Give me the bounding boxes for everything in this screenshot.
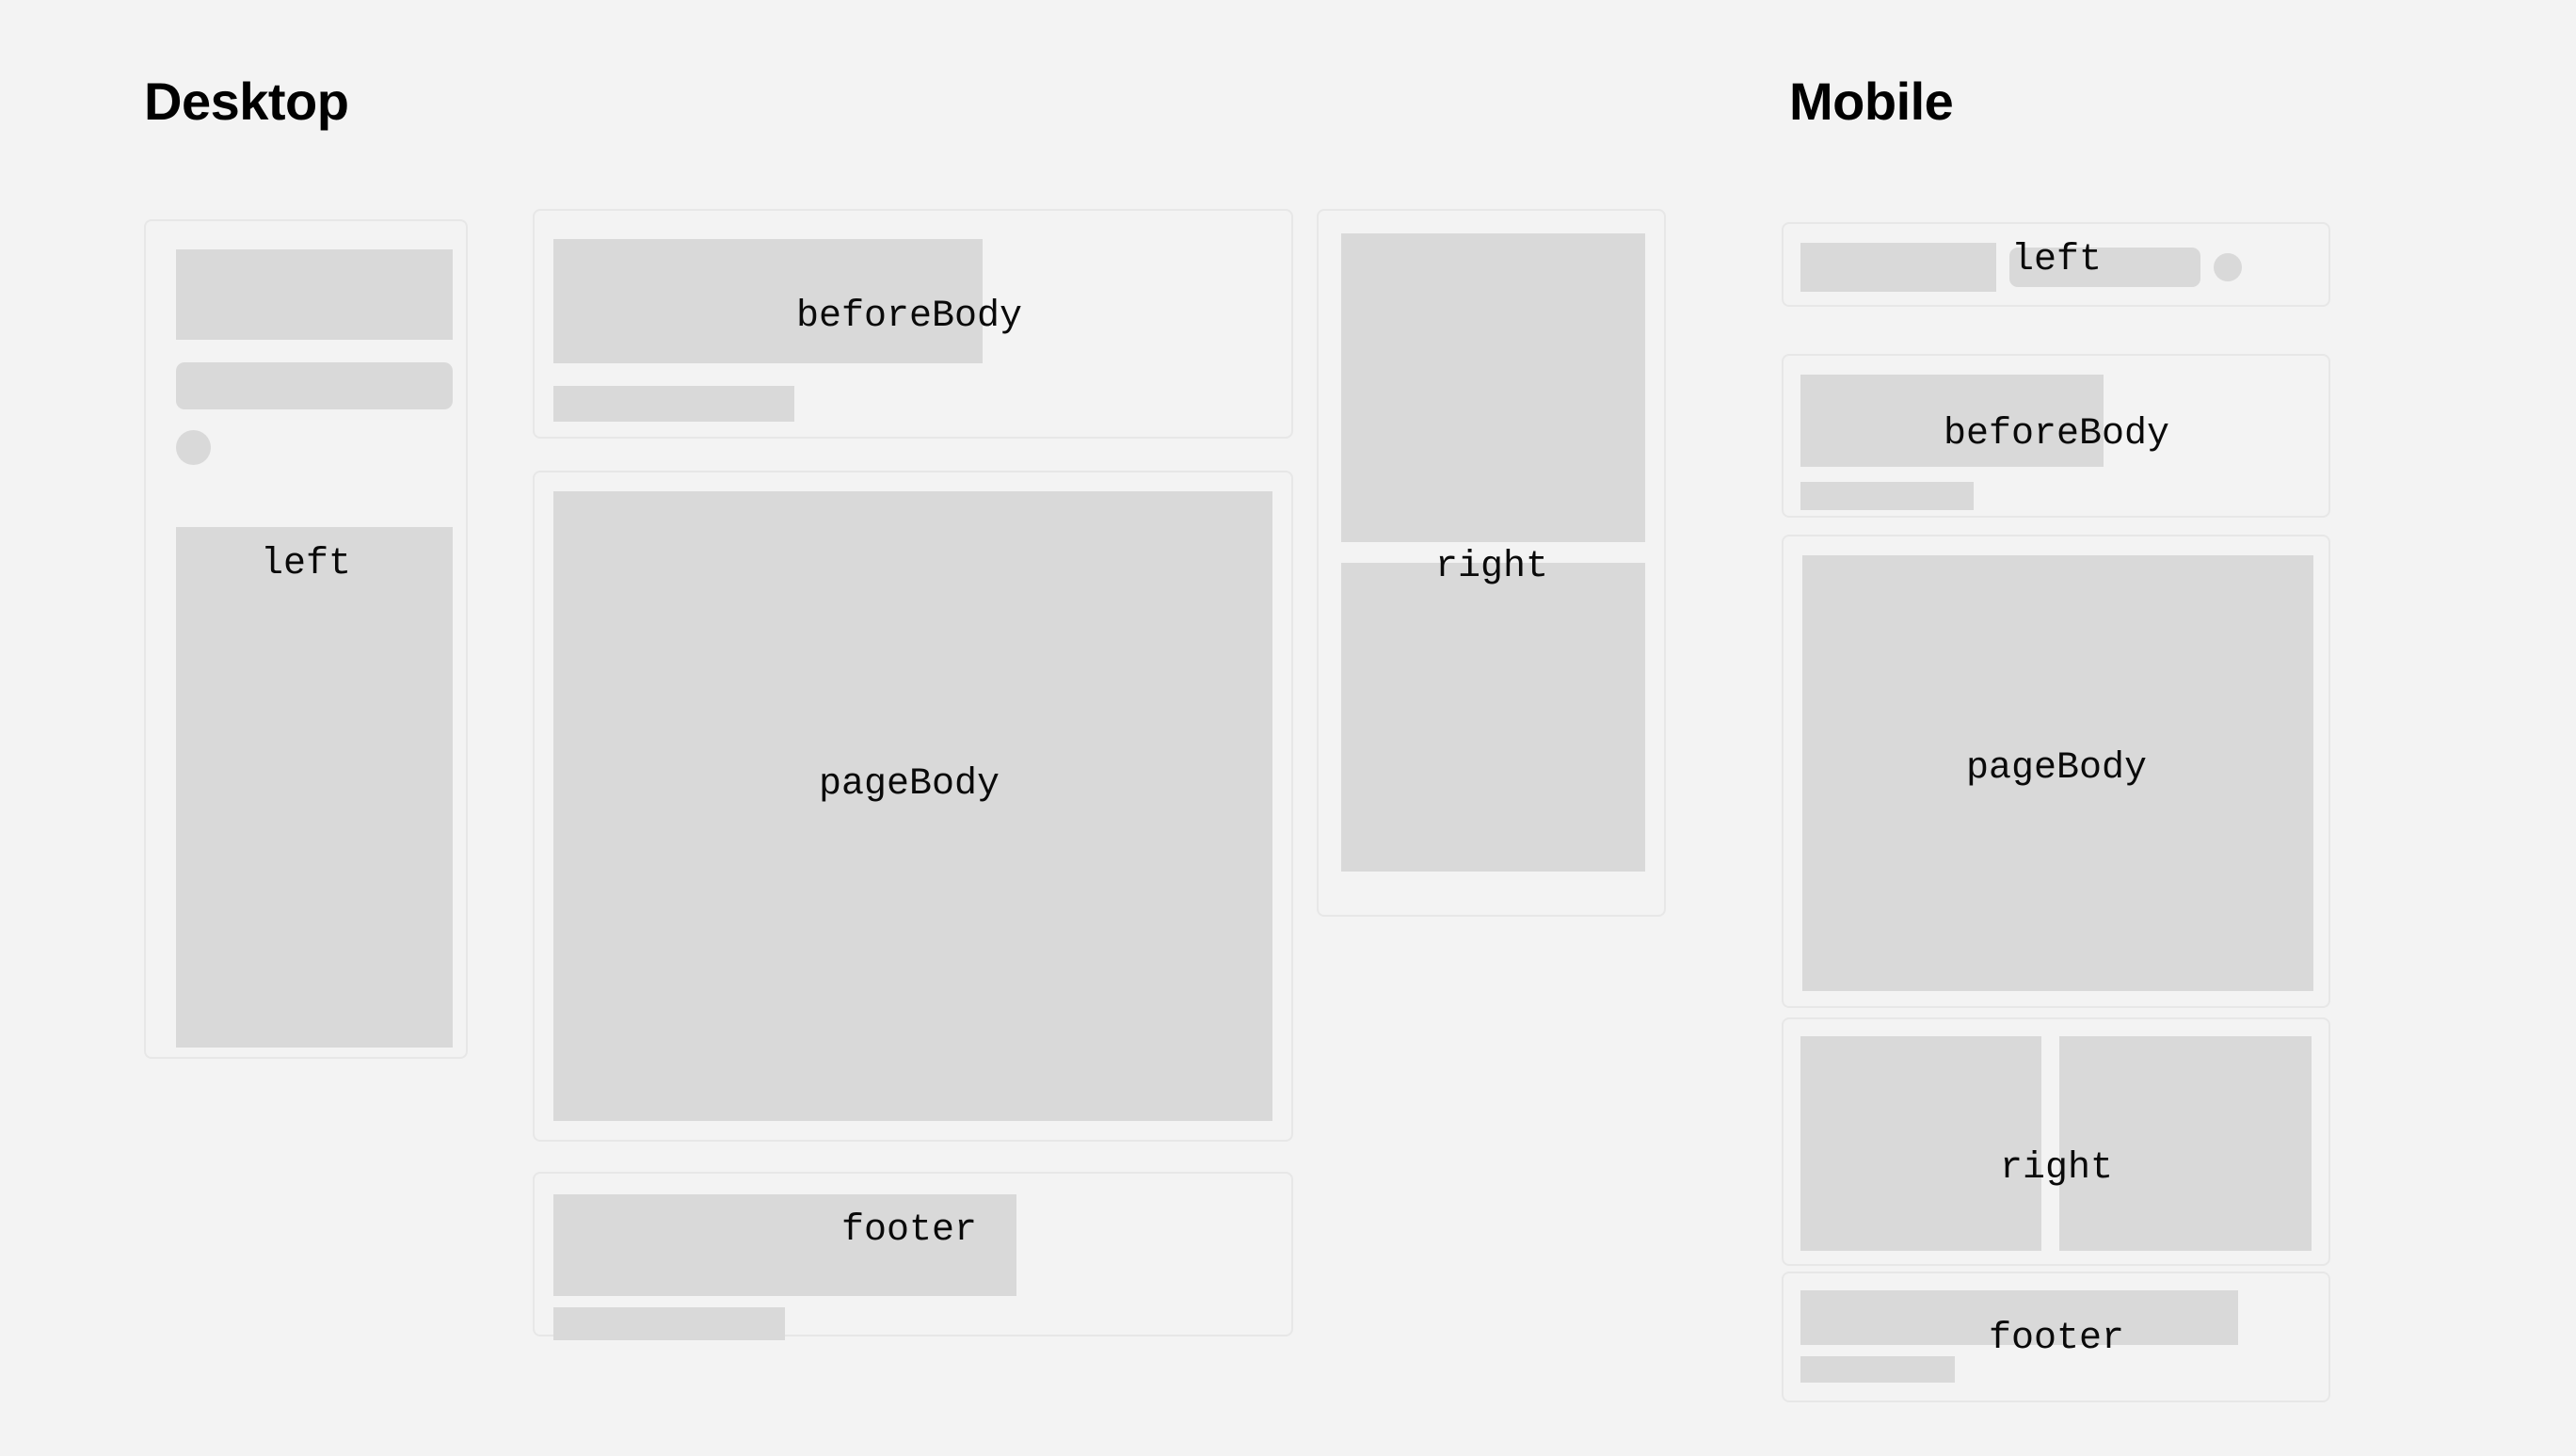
desktop-section-title: Desktop [144,75,348,128]
mobile-section-title: Mobile [1789,75,1953,128]
placeholder-bar [1800,482,1974,510]
desktop-right-panel[interactable] [1317,209,1666,917]
placeholder-block [1802,555,2313,991]
placeholder-block [553,1194,1016,1296]
placeholder-block [1800,243,1996,292]
desktop-footer-panel[interactable] [533,1172,1293,1336]
placeholder-block [553,239,983,363]
placeholder-block [176,249,453,340]
mobile-before-body-panel[interactable] [1782,354,2330,518]
placeholder-avatar-circle [2214,253,2242,281]
placeholder-avatar-circle [176,430,211,465]
placeholder-block [176,527,453,1048]
placeholder-block [2059,1036,2312,1251]
placeholder-bar [1800,1356,1955,1383]
placeholder-block [1800,1290,2238,1345]
layout-preview-stage: Desktop left beforeBody pageBody right f… [0,0,2576,1456]
mobile-page-body-panel[interactable] [1782,535,2330,1008]
placeholder-bar [2009,248,2200,287]
desktop-page-body-panel[interactable] [533,471,1293,1142]
desktop-before-body-panel[interactable] [533,209,1293,439]
placeholder-block [553,491,1272,1121]
placeholder-block [1341,233,1645,542]
placeholder-bar [176,362,453,409]
placeholder-block [1800,1036,2041,1251]
placeholder-bar [553,386,794,422]
mobile-left-panel[interactable] [1782,222,2330,307]
desktop-left-panel[interactable] [144,219,468,1059]
mobile-footer-panel[interactable] [1782,1272,2330,1402]
placeholder-bar [553,1307,785,1340]
placeholder-block [1341,563,1645,872]
mobile-right-panel[interactable] [1782,1017,2330,1266]
placeholder-block [1800,375,2104,467]
